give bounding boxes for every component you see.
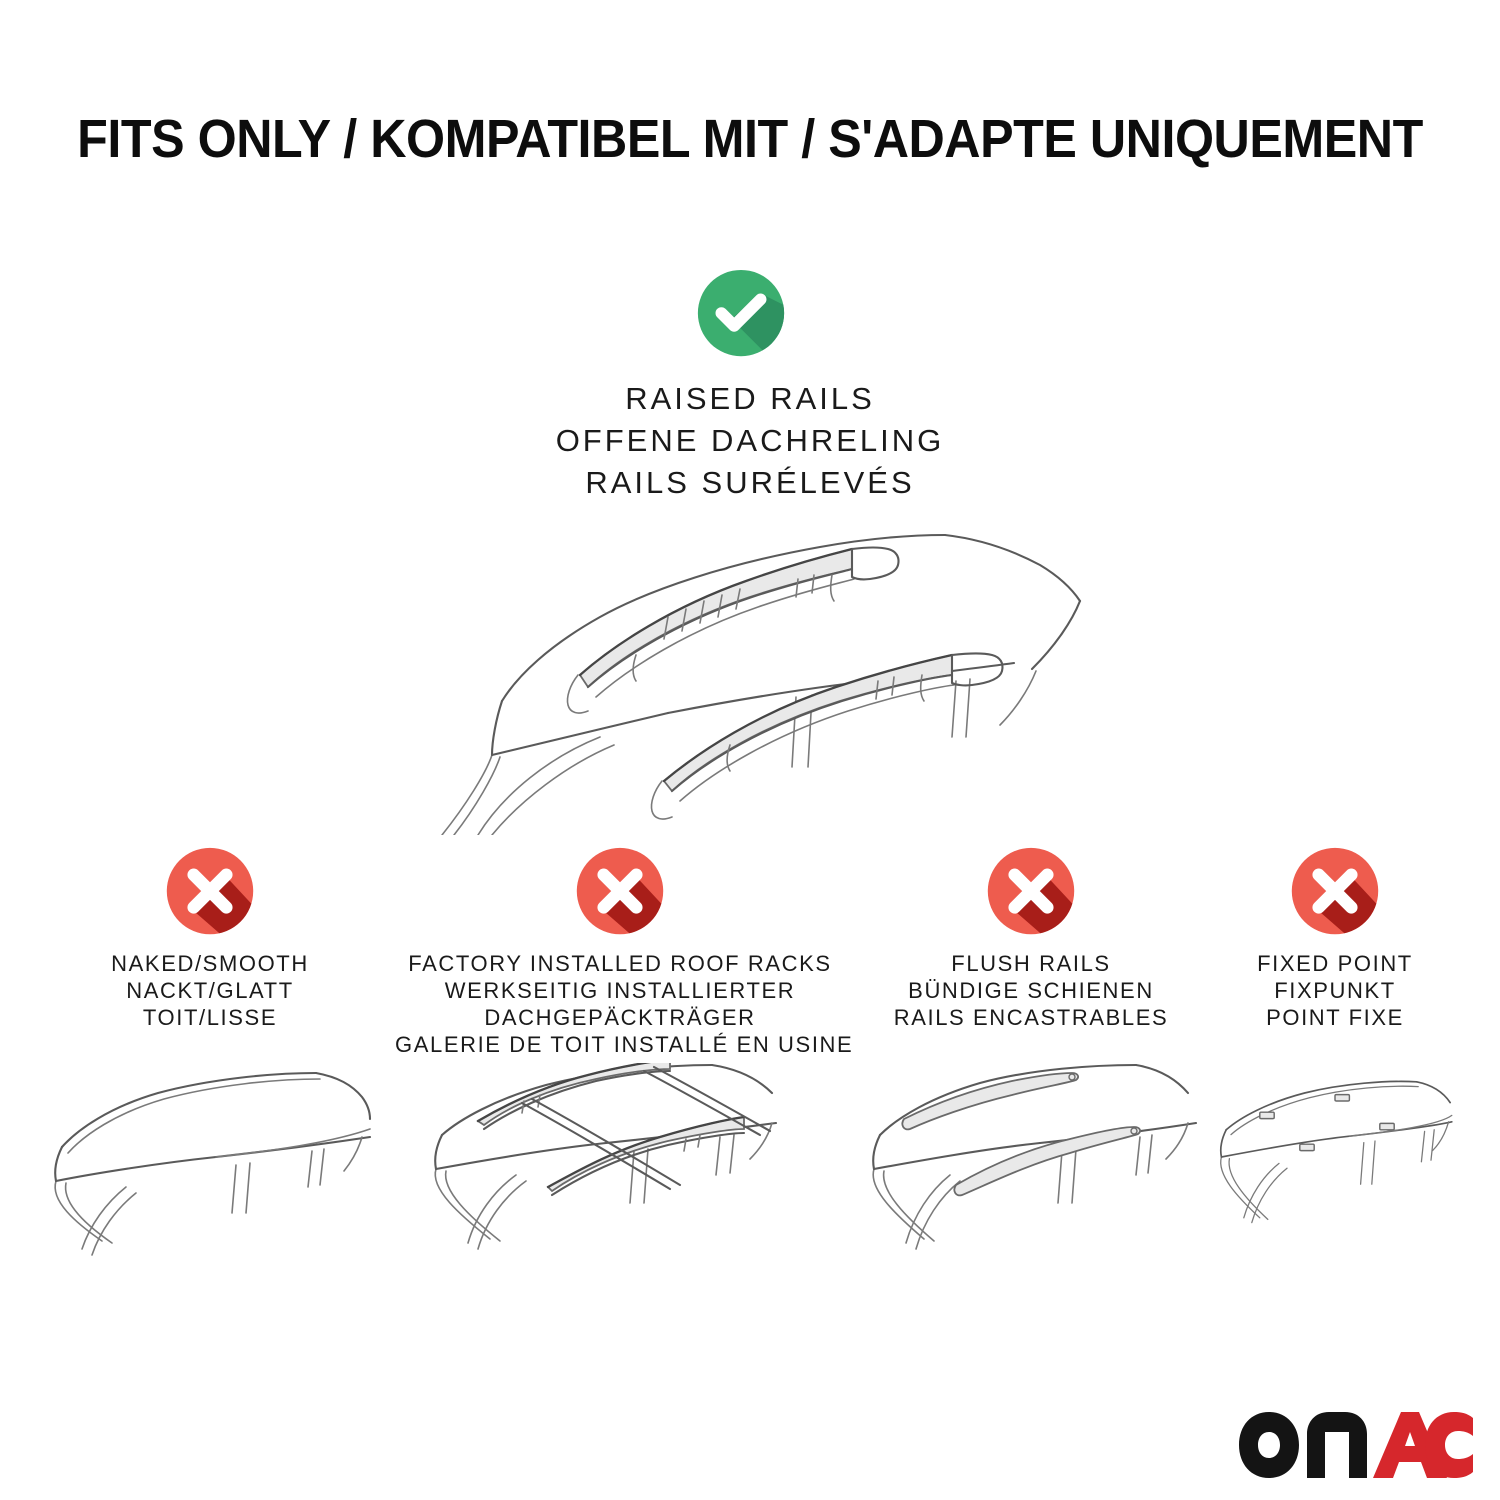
incompatible-3-label-en: FLUSH RAILS: [862, 950, 1200, 977]
cross-circle-icon: [572, 845, 668, 941]
omac-logo: [1237, 1410, 1475, 1480]
incompatible-labels-4: FIXED POINT FIXPUNKT POINT FIXE: [1215, 950, 1455, 1031]
infographic-page: FITS ONLY / KOMPATIBEL MIT / S'ADAPTE UN…: [0, 0, 1500, 1500]
incompatible-1-label-en: NAKED/SMOOTH: [40, 950, 380, 977]
incompatible-4-label-de: FIXPUNKT: [1215, 977, 1455, 1004]
incompatible-labels-2: FACTORY INSTALLED ROOF RACKS WERKSEITIG …: [395, 950, 845, 1058]
incompatible-labels-1: NAKED/SMOOTH NACKT/GLATT TOIT/LISSE: [40, 950, 380, 1031]
page-title: FITS ONLY / KOMPATIBEL MIT / S'ADAPTE UN…: [53, 108, 1448, 170]
incompatible-2-label-de1: WERKSEITIG INSTALLIERTER: [395, 977, 845, 1004]
incompatible-3-label-de: BÜNDIGE SCHIENEN: [862, 977, 1200, 1004]
incompatible-3-label-fr: RAILS ENCASTRABLES: [862, 1004, 1200, 1031]
car-roof-flush-rails-illustration: [862, 1063, 1200, 1283]
car-roof-raised-rails-illustration: [400, 505, 1100, 835]
compatible-label-de: OFFENE DACHRELING: [250, 420, 1250, 462]
car-roof-factory-racks-illustration: [395, 1063, 845, 1283]
compatible-labels: RAISED RAILS OFFENE DACHRELING RAILS SUR…: [250, 378, 1250, 504]
car-roof-naked-smooth-illustration: [40, 1063, 380, 1283]
cross-circle-icon: [983, 845, 1079, 941]
compatible-label-en: RAISED RAILS: [250, 378, 1250, 420]
incompatible-2-label-fr: GALERIE DE TOIT INSTALLÉ EN USINE: [395, 1031, 845, 1058]
incompatible-2-label-de2: DACHGEPÄCKTRÄGER: [395, 1004, 845, 1031]
car-roof-fixed-point-illustration: [1215, 1063, 1455, 1283]
check-circle-icon: [692, 268, 790, 366]
incompatible-1-label-de: NACKT/GLATT: [40, 977, 380, 1004]
incompatible-4-label-en: FIXED POINT: [1215, 950, 1455, 977]
incompatible-4-label-fr: POINT FIXE: [1215, 1004, 1455, 1031]
incompatible-labels-3: FLUSH RAILS BÜNDIGE SCHIENEN RAILS ENCAS…: [862, 950, 1200, 1031]
incompatible-1-label-fr: TOIT/LISSE: [40, 1004, 380, 1031]
cross-circle-icon: [1287, 845, 1383, 941]
incompatible-2-label-en: FACTORY INSTALLED ROOF RACKS: [395, 950, 845, 977]
compatible-label-fr: RAILS SURÉLEVÉS: [250, 462, 1250, 504]
cross-circle-icon: [162, 845, 258, 941]
